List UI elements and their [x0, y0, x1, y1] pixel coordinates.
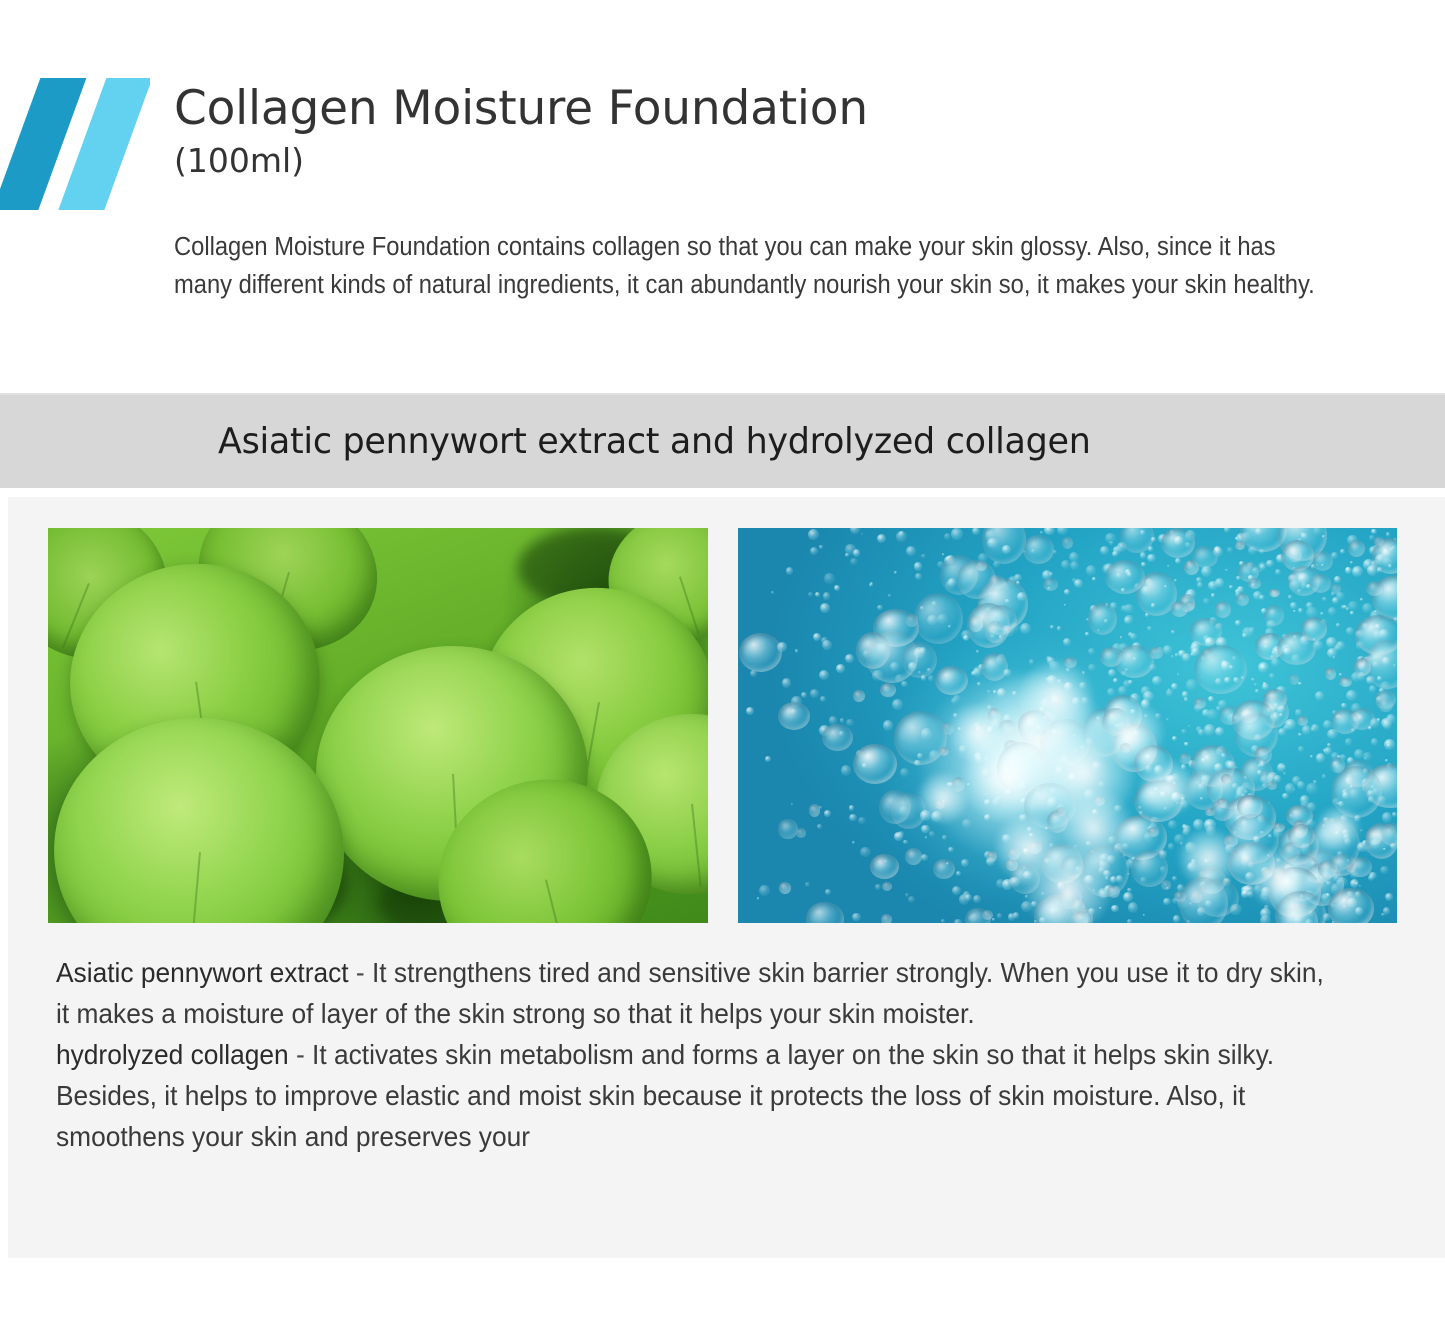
bubble [1386, 532, 1391, 537]
bubble [1141, 562, 1146, 567]
bubble [1029, 659, 1035, 665]
bubble [1302, 725, 1311, 734]
bubble [1020, 623, 1031, 634]
bubble [1312, 551, 1334, 571]
bubble [810, 547, 818, 555]
bubble [1298, 608, 1304, 614]
bubble [915, 573, 922, 580]
bubble [1092, 577, 1096, 581]
bubble [906, 546, 916, 556]
bubble [1184, 697, 1189, 702]
bubble [841, 765, 851, 775]
bubble [1345, 738, 1353, 746]
bubble [1208, 696, 1214, 702]
bubble [952, 886, 962, 896]
bubble [1306, 783, 1317, 794]
bubble [1300, 795, 1309, 804]
bubble [869, 583, 873, 587]
bubble [808, 529, 819, 540]
bubble [1148, 827, 1159, 837]
bubble [928, 675, 935, 682]
bubble [849, 805, 854, 810]
bubble [1147, 626, 1152, 631]
bubble [1111, 905, 1119, 913]
bubble [905, 848, 922, 866]
bubble [1057, 626, 1061, 630]
bubble [1293, 610, 1296, 613]
light-foam [1018, 660, 1094, 736]
bubble [1166, 718, 1169, 721]
bubble [1120, 636, 1123, 639]
bubble [823, 592, 830, 599]
bubble [1171, 683, 1178, 690]
bubble [850, 528, 860, 534]
bubble [1225, 569, 1228, 572]
section-banner-title: Asiatic pennywort extract and hydrolyzed… [218, 421, 1091, 462]
bubble [992, 918, 995, 921]
bubble [1348, 601, 1358, 611]
bubble [1105, 560, 1146, 594]
bubble [1143, 914, 1146, 917]
title-block: Collagen Moisture Foundation (100ml) [174, 80, 1354, 182]
bubble [894, 711, 947, 765]
bubble [1331, 584, 1341, 593]
bubble [1172, 876, 1177, 881]
bubble [1168, 820, 1177, 829]
bubble [883, 720, 893, 730]
bubble [845, 544, 856, 555]
bubble [1184, 742, 1189, 747]
bubble [1275, 569, 1281, 575]
intro-paragraph: Collagen Moisture Foundation contains co… [174, 228, 1332, 304]
bubble [1237, 795, 1262, 817]
bubble [746, 707, 754, 715]
bubble [972, 528, 980, 535]
bubble [941, 919, 945, 923]
bubble [1282, 793, 1288, 799]
bubble [1227, 547, 1233, 553]
bubble [1382, 812, 1393, 823]
bubble [1359, 885, 1362, 888]
bubble [852, 841, 855, 844]
bubble [1336, 641, 1346, 651]
bubble [1215, 727, 1224, 736]
bubble [1050, 625, 1054, 629]
bubble [1062, 537, 1073, 549]
bubble [1235, 541, 1245, 549]
bubble [901, 681, 907, 687]
bubble [1173, 915, 1181, 923]
bubble [1333, 656, 1336, 659]
bubble [1254, 683, 1257, 686]
bubble [1181, 729, 1187, 735]
light-foam [1316, 806, 1360, 850]
bubble [1288, 566, 1320, 596]
bubble [815, 592, 820, 597]
leaves-background [48, 528, 708, 923]
bubble [1127, 919, 1133, 923]
double-slash-logo-icon [0, 78, 150, 210]
bubble [1043, 578, 1058, 591]
bubble [1340, 549, 1345, 554]
bubble [778, 702, 810, 730]
bubble [1061, 560, 1070, 569]
bubble [1328, 607, 1337, 616]
bubble [1163, 898, 1171, 906]
bubble [1064, 604, 1066, 606]
bubble [739, 633, 782, 672]
bubble [1147, 554, 1155, 562]
bubble [840, 718, 845, 723]
bubble [1143, 691, 1154, 702]
bubble [1315, 691, 1325, 701]
bubble [1383, 907, 1391, 915]
light-foam [1024, 844, 1112, 923]
ingredient-name: Asiatic pennywort extract [56, 957, 349, 988]
bubble [1341, 703, 1347, 709]
bubble [1271, 658, 1280, 667]
bubble [875, 884, 881, 890]
bubble [1202, 648, 1214, 660]
bubble [1044, 528, 1054, 535]
bubble [894, 832, 902, 840]
bubble [1211, 593, 1215, 597]
ingredient-image-row [48, 528, 1397, 923]
bubble [1100, 647, 1122, 667]
bubble [1289, 674, 1299, 685]
bubble [877, 605, 882, 610]
water-bubbles-photo [738, 528, 1397, 923]
bubble [921, 554, 925, 558]
bubble [1346, 627, 1354, 635]
bubble [817, 824, 822, 829]
bubble [858, 817, 866, 825]
bubble [834, 585, 840, 591]
bubble [1282, 765, 1285, 768]
bubble [805, 882, 810, 887]
bubble [1334, 576, 1340, 582]
bubble [1198, 729, 1205, 736]
bubble [821, 637, 828, 644]
bubble [1298, 733, 1302, 737]
bubble [1215, 601, 1231, 617]
bubble [1259, 595, 1264, 600]
bubble [1203, 598, 1209, 604]
bubble [1057, 528, 1068, 535]
bubble [961, 859, 969, 867]
bubble [1322, 774, 1326, 778]
bubble [1221, 774, 1231, 784]
bubble [1350, 611, 1353, 614]
bubble [1322, 597, 1327, 602]
bubble [944, 533, 951, 540]
bubble [921, 854, 928, 861]
bubble [1263, 682, 1266, 685]
bubble [1140, 552, 1147, 559]
bubble [1163, 645, 1172, 654]
bubble [1112, 551, 1118, 557]
bubble [914, 562, 923, 571]
bubble [1013, 912, 1020, 919]
light-foam [1140, 760, 1196, 816]
light-foam [1096, 699, 1164, 767]
bubble [892, 699, 903, 710]
bubble [1324, 747, 1331, 754]
bubble [1369, 872, 1377, 880]
bubble [1339, 673, 1343, 677]
bubble [879, 790, 911, 824]
bubble [1328, 888, 1374, 923]
bubble [1380, 866, 1389, 875]
bubble [850, 558, 857, 565]
page-header: Collagen Moisture Foundation (100ml) Col… [0, 0, 1445, 380]
bubble [1381, 718, 1391, 728]
bubble [1354, 749, 1364, 759]
bubble [1040, 531, 1043, 534]
bubble [824, 573, 835, 584]
bubble [1131, 850, 1168, 887]
bubble [809, 804, 820, 816]
ingredient-paragraph: Asiatic pennywort extract - It strengthe… [56, 952, 1325, 1034]
bubble [1229, 585, 1233, 589]
bubble [1121, 605, 1127, 611]
bubble [1331, 709, 1360, 733]
bubble [903, 840, 908, 845]
bubble [1366, 581, 1384, 596]
bubble [1182, 653, 1191, 662]
bubble [1269, 589, 1279, 598]
bubble [1186, 679, 1197, 690]
bubble [1105, 533, 1116, 544]
bubble [1371, 529, 1376, 534]
bubble [1278, 728, 1286, 736]
bubble [951, 698, 957, 704]
product-description-page: Collagen Moisture Foundation (100ml) Col… [0, 0, 1445, 1318]
bubble [813, 633, 821, 641]
bubble [956, 871, 961, 876]
bubble [861, 533, 863, 535]
light-foam [917, 772, 969, 824]
bubble [954, 919, 962, 923]
bubble [1369, 685, 1376, 692]
bubble [820, 696, 826, 702]
light-foam [1248, 848, 1308, 908]
bubble [765, 756, 770, 761]
asiatic-pennywort-leaves-photo [48, 528, 708, 923]
bubble [1063, 638, 1071, 646]
bubble [759, 885, 770, 896]
bubble [1123, 680, 1131, 688]
bubble [1074, 579, 1083, 588]
bubble [1301, 617, 1327, 640]
bubble [810, 689, 819, 698]
ingredient-name: hydrolyzed collagen [56, 1039, 289, 1070]
bubble [1123, 892, 1133, 902]
bubble [967, 603, 1010, 648]
bubble [888, 594, 892, 598]
bubble [973, 895, 981, 903]
bubble [1088, 603, 1117, 635]
bubble [1375, 690, 1397, 709]
bubble [1346, 690, 1357, 701]
bubble [853, 744, 897, 784]
bubble [962, 819, 972, 829]
bubble [1069, 552, 1079, 562]
bubble [1269, 673, 1275, 679]
bubble [1172, 736, 1177, 741]
bubble [1194, 698, 1206, 709]
bubble [902, 642, 937, 678]
bubble [1086, 565, 1096, 575]
bubble [1070, 561, 1079, 570]
bubble [1320, 612, 1324, 616]
bubble [1049, 572, 1053, 576]
bubble [1264, 605, 1284, 626]
bubble [1088, 664, 1095, 671]
bubble [1224, 528, 1231, 533]
bubble [1128, 902, 1139, 913]
bubble [1130, 633, 1137, 640]
bubble [1202, 709, 1210, 717]
bubble [929, 831, 935, 837]
bubble [1149, 647, 1163, 660]
bubble [1208, 581, 1217, 590]
bubble [1177, 673, 1179, 675]
bubble [1285, 783, 1295, 793]
bubble [791, 803, 793, 805]
bubble [1316, 753, 1326, 763]
bubble [997, 913, 1002, 918]
light-foam [948, 703, 1008, 763]
bubble [1352, 566, 1362, 576]
bubble [1310, 755, 1313, 758]
bubble [894, 571, 897, 574]
bubble [880, 683, 895, 697]
bubble [796, 828, 806, 837]
bubble [1190, 618, 1222, 647]
bubble [877, 534, 886, 543]
bubble [819, 545, 823, 549]
bubble [935, 666, 968, 695]
bubble [1392, 812, 1397, 817]
bubble [1088, 648, 1095, 655]
bubble [1064, 589, 1070, 595]
bubble [948, 847, 954, 853]
bubble [853, 690, 866, 702]
bubble [829, 716, 837, 724]
bubble [1292, 776, 1301, 785]
bubble [942, 553, 945, 556]
bubble [1266, 560, 1273, 567]
bubble [1167, 565, 1170, 568]
bubble [825, 889, 831, 895]
bubble [921, 825, 929, 833]
bubble [801, 692, 807, 698]
bubble [1113, 678, 1118, 683]
bubble [1283, 772, 1286, 775]
bubble [1236, 593, 1249, 606]
bubble [933, 859, 956, 879]
bubble [1190, 644, 1199, 653]
bubble [942, 835, 947, 840]
bubble [965, 894, 972, 901]
bubble [1360, 829, 1363, 832]
bubble [977, 682, 981, 686]
ingredient-dash: - [349, 957, 372, 988]
bubble [1100, 546, 1108, 554]
bubble [1248, 578, 1261, 589]
bubble [822, 724, 853, 751]
bubble [1339, 677, 1352, 687]
bubble [808, 592, 813, 597]
bubble [1023, 535, 1054, 563]
bubble [976, 650, 980, 654]
bubble [900, 768, 909, 777]
bubble [1235, 620, 1241, 626]
bubble [1385, 759, 1388, 762]
bubble [1171, 630, 1175, 634]
bubble [1259, 570, 1262, 573]
bubble [1290, 602, 1297, 609]
bubble [1350, 879, 1359, 888]
bubble [1298, 746, 1304, 752]
bubble [870, 854, 899, 879]
light-foam [1178, 828, 1238, 888]
bubble [1171, 601, 1188, 617]
bubble [1204, 724, 1215, 735]
bubble [795, 649, 799, 653]
bubble [1336, 623, 1340, 627]
bubble [820, 603, 830, 613]
bubble [981, 653, 1008, 681]
bubble [1232, 700, 1275, 740]
bubble [779, 882, 792, 894]
bubble [1260, 908, 1271, 919]
bubble [819, 670, 829, 680]
bubble [1255, 746, 1272, 765]
bubble [1365, 823, 1397, 859]
section-banner: Asiatic pennywort extract and hydrolyzed… [0, 393, 1445, 488]
bubble [1363, 752, 1372, 761]
bubble [1355, 615, 1397, 655]
bubble [881, 914, 892, 923]
bubble [860, 847, 871, 858]
bubble [1171, 655, 1174, 658]
bubble [1325, 668, 1336, 680]
bubble [1251, 678, 1254, 681]
bubble [1362, 603, 1372, 613]
ingredient-descriptions: Asiatic pennywort extract - It strengthe… [56, 952, 1325, 1157]
bubble [1371, 738, 1379, 746]
page-title: Collagen Moisture Foundation [174, 80, 1354, 138]
bubble [824, 810, 831, 817]
bubble [786, 567, 793, 574]
bubble [1298, 682, 1302, 686]
bubble [1192, 546, 1218, 567]
bubble [957, 560, 996, 599]
bubble [1255, 689, 1259, 693]
bubble [1124, 615, 1133, 624]
bubble [1350, 561, 1353, 564]
bubble [1385, 893, 1394, 902]
bubble [782, 678, 791, 687]
bubble [1384, 739, 1395, 750]
water-background [738, 528, 1397, 923]
bubble [1161, 528, 1196, 558]
bubble [951, 528, 962, 539]
bubble [1348, 540, 1364, 557]
ingredient-dash: - [289, 1039, 312, 1070]
